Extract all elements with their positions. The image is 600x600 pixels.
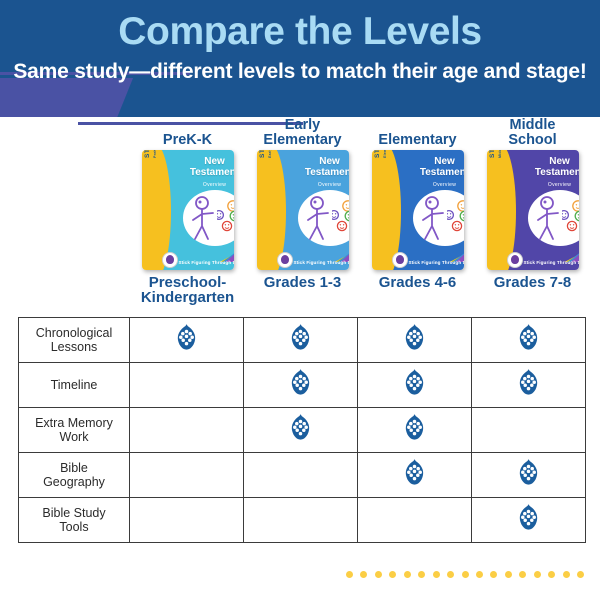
footer-dot <box>476 571 483 578</box>
level-grade-range: Grades 7-8 <box>494 275 572 290</box>
footer-dot <box>505 571 512 578</box>
book-tagline: Stick Figuring Through the Bible! <box>409 260 464 266</box>
feature-label: Bible Geography <box>19 453 130 498</box>
book-spine <box>257 150 274 270</box>
feature-cell-r3-c1 <box>130 408 244 453</box>
feature-cell-r3-c3 <box>358 408 472 453</box>
level-title: Middle School <box>508 118 556 148</box>
footer-dot <box>360 571 367 578</box>
level-grade-range: Preschool- Kindergarten <box>141 275 234 306</box>
pencils-group <box>526 240 579 262</box>
footer-dot <box>519 571 526 578</box>
grape-cluster-icon <box>404 459 425 486</box>
feature-cell-r5-c4 <box>472 498 586 543</box>
level-column-1: PreK-K New Testament Overview <box>130 118 245 313</box>
footer-dot <box>447 571 454 578</box>
grape-cluster-icon <box>290 369 311 396</box>
level-grade-range: Grades 1-3 <box>264 275 342 290</box>
feature-cell-r4-c1 <box>130 453 244 498</box>
book-front: New Testament Overview <box>389 150 464 270</box>
book-spine <box>372 150 389 270</box>
footer-dot <box>534 571 541 578</box>
book-spine <box>487 150 504 270</box>
header-purple-shape <box>0 78 133 117</box>
footer-dot <box>548 571 555 578</box>
table-row: Bible Study Tools <box>19 498 586 543</box>
publisher-badge-icon <box>392 252 408 268</box>
grape-cluster-icon <box>518 459 539 486</box>
feature-cell-r2-c2 <box>244 363 358 408</box>
book-tagline: Stick Figuring Through the Bible! <box>179 260 234 266</box>
smiley-faces-icon <box>447 200 464 234</box>
feature-cell-r1-c3 <box>358 318 472 363</box>
feature-cell-r3-c4 <box>472 408 586 453</box>
book-spine-level: Early Elementary <box>268 150 272 158</box>
grape-cluster-icon <box>404 324 425 351</box>
book-front: New Testament Overview <box>504 150 579 270</box>
feature-cell-r2-c3 <box>358 363 472 408</box>
feature-cell-r2-c1 <box>130 363 244 408</box>
grape-cluster-icon <box>290 324 311 351</box>
footer-dot <box>462 571 469 578</box>
book-subtitle: Overview <box>181 182 234 188</box>
level-title: Early Elementary <box>263 118 341 148</box>
pencils-group <box>181 240 234 262</box>
feature-cell-r5-c1 <box>130 498 244 543</box>
smiley-faces-icon <box>332 200 349 234</box>
book-subtitle: Overview <box>296 182 349 188</box>
level-title: Elementary <box>378 118 456 148</box>
infographic-page: Compare the Levels Same study—different … <box>0 0 600 600</box>
feature-label: Chronological Lessons <box>19 318 130 363</box>
feature-cell-r4-c2 <box>244 453 358 498</box>
pencils-group <box>296 240 349 262</box>
book-spine-label: STUDENT <box>144 150 151 158</box>
level-columns: PreK-K New Testament Overview <box>130 118 590 313</box>
grape-cluster-icon <box>290 414 311 441</box>
stick-figure-icon <box>189 196 219 242</box>
page-subtitle: Same study—different levels to match the… <box>0 60 600 84</box>
book-title: New Testament <box>411 157 464 178</box>
feature-cell-r3-c2 <box>244 408 358 453</box>
table-row: Timeline <box>19 363 586 408</box>
header-banner: Compare the Levels Same study—different … <box>0 0 600 117</box>
grape-cluster-icon <box>518 369 539 396</box>
footer-dot <box>490 571 497 578</box>
publisher-badge-icon <box>277 252 293 268</box>
book-title: New Testament <box>526 157 579 178</box>
book-spine-label: STUDENT <box>489 150 496 158</box>
level-grade-range: Grades 4-6 <box>379 275 457 290</box>
feature-cell-r2-c4 <box>472 363 586 408</box>
pencils-group <box>411 240 464 262</box>
footer-dot <box>404 571 411 578</box>
footer-dot-row <box>346 570 584 578</box>
feature-label: Extra Memory Work <box>19 408 130 453</box>
feature-cell-r1-c1 <box>130 318 244 363</box>
book-cover-4[interactable]: New Testament Overview <box>487 150 579 270</box>
footer-dot <box>563 571 570 578</box>
level-column-4: Middle School New Testament Overview <box>475 118 590 313</box>
level-column-2: Early Elementary New Testament Overview <box>245 118 360 313</box>
grape-cluster-icon <box>518 504 539 531</box>
table-row: Bible Geography <box>19 453 586 498</box>
book-title: New Testament <box>181 157 234 178</box>
table-row: Chronological Lessons <box>19 318 586 363</box>
stick-figure-icon <box>304 196 334 242</box>
level-title: PreK-K <box>163 118 212 148</box>
table-row: Extra Memory Work <box>19 408 586 453</box>
grape-cluster-icon <box>404 414 425 441</box>
footer-dot <box>418 571 425 578</box>
footer-dot <box>389 571 396 578</box>
book-front: New Testament Overview <box>274 150 349 270</box>
book-title: New Testament <box>296 157 349 178</box>
feature-cell-r5-c2 <box>244 498 358 543</box>
publisher-badge-icon <box>162 252 178 268</box>
book-cover-3[interactable]: New Testament Overview <box>372 150 464 270</box>
grape-cluster-icon <box>404 369 425 396</box>
publisher-badge-icon <box>507 252 523 268</box>
book-cover-2[interactable]: New Testament Overview <box>257 150 349 270</box>
feature-label: Timeline <box>19 363 130 408</box>
book-spine-label: STUDENT <box>259 150 266 158</box>
feature-cell-r1-c2 <box>244 318 358 363</box>
book-cover-1[interactable]: New Testament Overview <box>142 150 234 270</box>
feature-cell-r5-c3 <box>358 498 472 543</box>
footer-dot <box>433 571 440 578</box>
book-tagline: Stick Figuring Through the Bible! <box>294 260 349 266</box>
stick-figure-icon <box>534 196 564 242</box>
feature-cell-r4-c4 <box>472 453 586 498</box>
stick-figure-icon <box>419 196 449 242</box>
book-subtitle: Overview <box>411 182 464 188</box>
book-spine-label: STUDENT <box>374 150 381 158</box>
comparison-table: Chronological Lessons Timeline Extra Mem… <box>18 317 586 543</box>
smiley-faces-icon <box>217 200 234 234</box>
book-front: New Testament Overview <box>159 150 234 270</box>
book-spine-level: PreK-K <box>153 150 157 158</box>
feature-label: Bible Study Tools <box>19 498 130 543</box>
footer-dot <box>346 571 353 578</box>
book-spine-level: Elementary <box>383 150 387 158</box>
footer-dot <box>577 571 584 578</box>
grape-cluster-icon <box>518 324 539 351</box>
feature-cell-r4-c3 <box>358 453 472 498</box>
footer-dot <box>375 571 382 578</box>
book-subtitle: Overview <box>526 182 579 188</box>
book-tagline: Stick Figuring Through the Bible! <box>524 260 579 266</box>
page-title: Compare the Levels <box>0 12 600 53</box>
smiley-faces-icon <box>562 200 579 234</box>
grape-cluster-icon <box>176 324 197 351</box>
level-column-3: Elementary New Testament Overview <box>360 118 475 313</box>
feature-cell-r1-c4 <box>472 318 586 363</box>
book-spine-level: Middle School <box>498 150 502 158</box>
book-spine <box>142 150 159 270</box>
